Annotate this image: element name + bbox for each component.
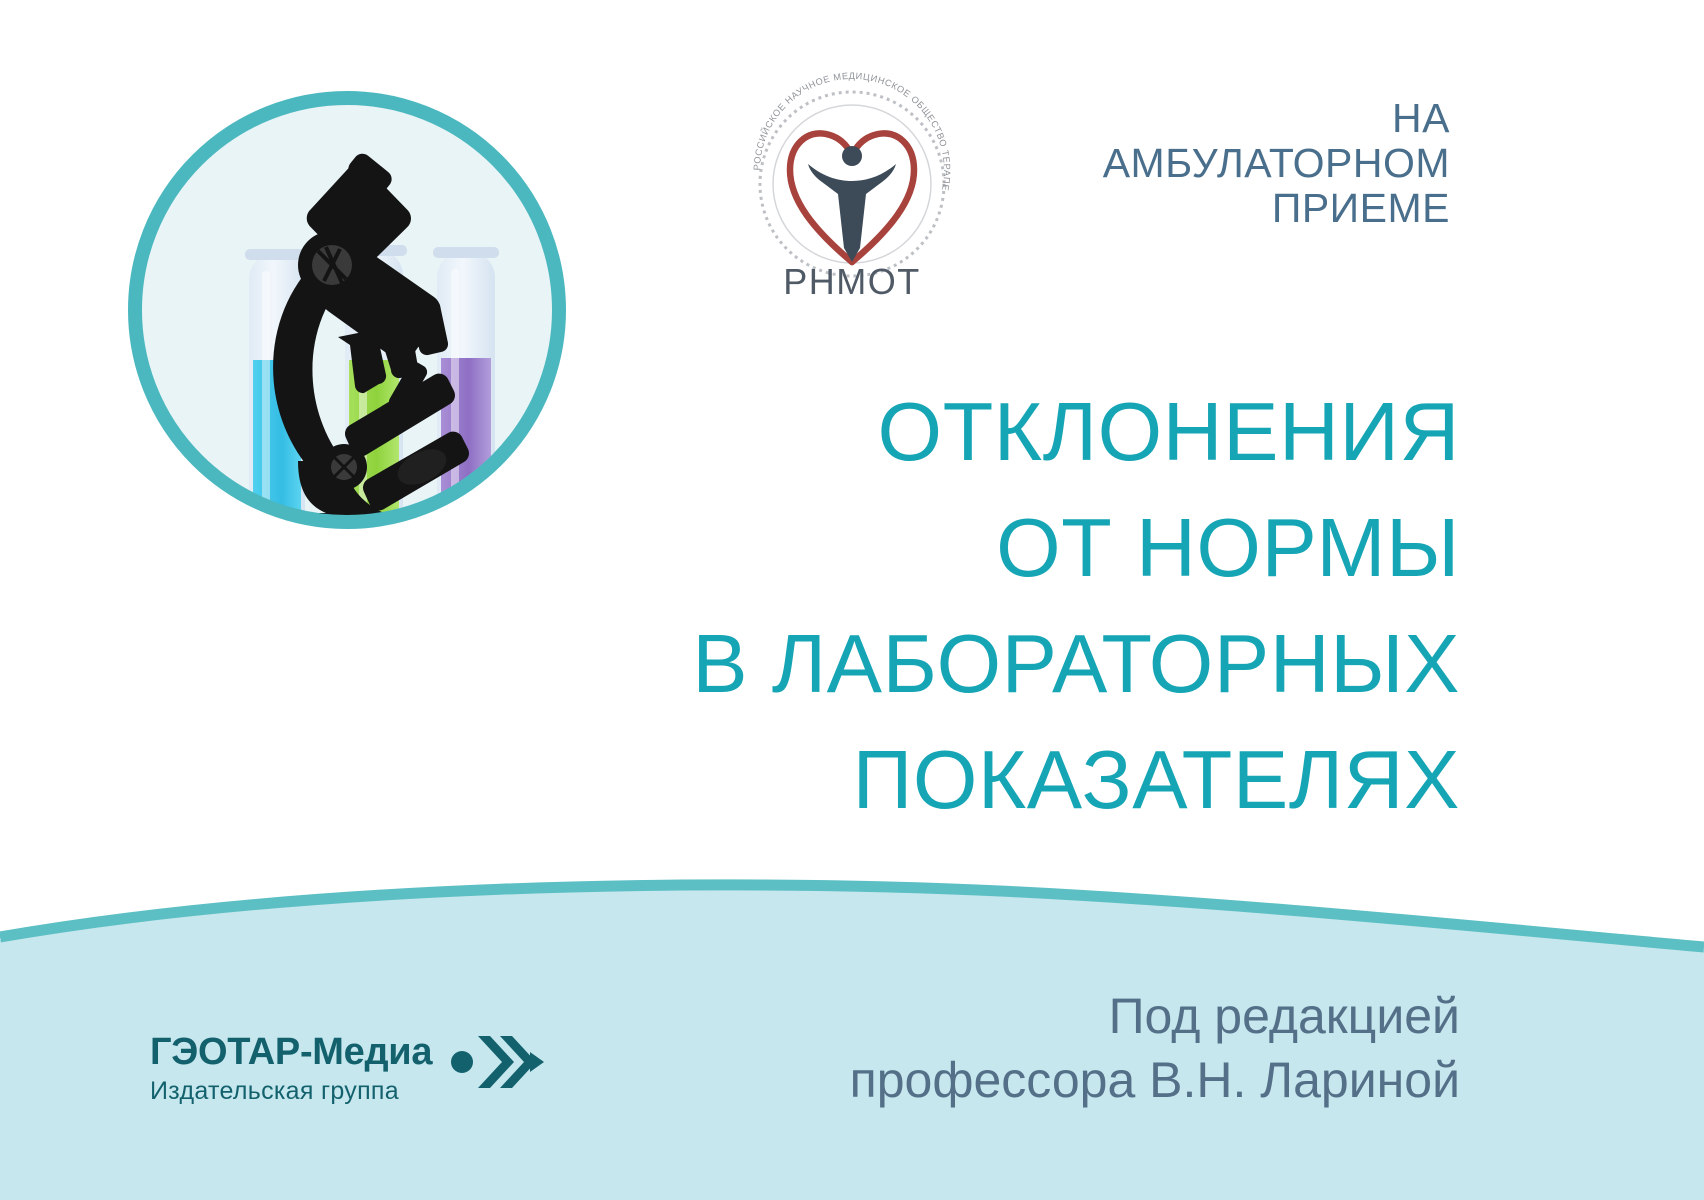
publisher-wordmark: ГЭОТАР-Медиа Издательская группа xyxy=(150,1033,432,1104)
logo-acronym: РНМОТ xyxy=(783,261,921,302)
editor-line-2: профессора В.Н. Лариной xyxy=(700,1048,1460,1112)
publisher-logo: ГЭОТАР-Медиа Издательская группа xyxy=(150,1032,546,1104)
title-line-4: ПОКАЗАТЕЛЯХ xyxy=(300,722,1460,838)
title-line-1: ОТКЛОНЕНИЯ xyxy=(300,374,1460,490)
book-cover: РОССИЙСКОЕ НАУЧНОЕ МЕДИЦИНСКОЕ ОБЩЕСТВО … xyxy=(0,0,1704,1200)
kicker-line-2: АМБУЛАТОРНОМ xyxy=(980,141,1450,186)
series-kicker: НА АМБУЛАТОРНОМ ПРИЕМЕ xyxy=(980,96,1450,231)
kicker-line-3: ПРИЕМЕ xyxy=(980,186,1450,231)
editor-credit: Под редакцией профессора В.Н. Лариной xyxy=(700,984,1460,1112)
chevron-arrow-mark-icon xyxy=(450,1032,546,1104)
person-figure-icon xyxy=(808,146,896,262)
title-line-3: В ЛАБОРАТОРНЫХ xyxy=(300,606,1460,722)
publisher-name: ГЭОТАР-Медиа xyxy=(150,1033,432,1071)
publisher-subtitle: Издательская группа xyxy=(150,1079,432,1104)
rnmot-society-logo: РОССИЙСКОЕ НАУЧНОЕ МЕДИЦИНСКОЕ ОБЩЕСТВО … xyxy=(742,72,962,302)
kicker-line-1: НА xyxy=(980,96,1450,141)
title-line-2: ОТ НОРМЫ xyxy=(300,490,1460,606)
editor-line-1: Под редакцией xyxy=(700,984,1460,1048)
book-title: ОТКЛОНЕНИЯ ОТ НОРМЫ В ЛАБОРАТОРНЫХ ПОКАЗ… xyxy=(300,374,1460,839)
